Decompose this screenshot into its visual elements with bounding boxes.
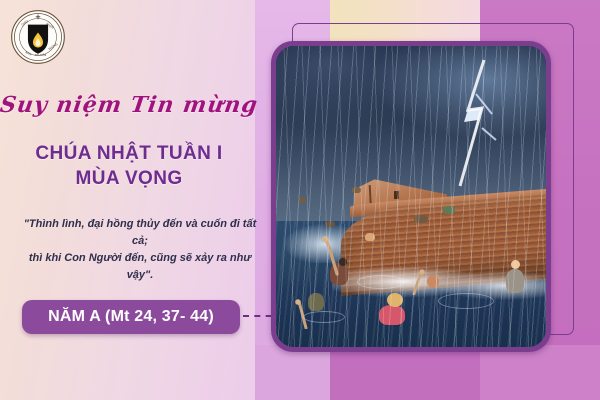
diocese-seal-logo: GIÁO PHẬN BAN TRUYỀN THÔNG [10,9,66,65]
noahs-ark-flood-illustration [276,46,546,347]
page-title-line-1: CHÚA NHẬT TUẦN I [0,143,258,165]
page-title-line-2: MÙA VỌNG [0,168,258,190]
scripture-reference-badge[interactable]: NĂM A (Mt 24, 37- 44) [22,300,240,334]
background-band-lilac-lower [255,345,330,400]
scripture-quote-line-1: "Thình lình, đại hồng thủy đến và cuốn đ… [16,216,264,250]
scripture-quote-line-2: thì khi Con Người đến, cũng sẽ xảy ra nh… [16,250,264,284]
scripture-reference-label: NĂM A (Mt 24, 37- 44) [48,308,214,326]
svg-text:TRUYỀN: TRUYỀN [34,52,47,57]
photo-frame [271,41,551,352]
rain-overlay-secondary [276,46,546,347]
page-script-title: Suy niệm Tin mừng [0,92,260,118]
poster-canvas: GIÁO PHẬN BAN TRUYỀN THÔNG Suy niệm Tin … [0,0,600,400]
background-band-orchid-lower [480,345,600,400]
background-band-cream-lower [330,345,480,400]
scripture-quote: "Thình lình, đại hồng thủy đến và cuốn đ… [16,216,264,284]
